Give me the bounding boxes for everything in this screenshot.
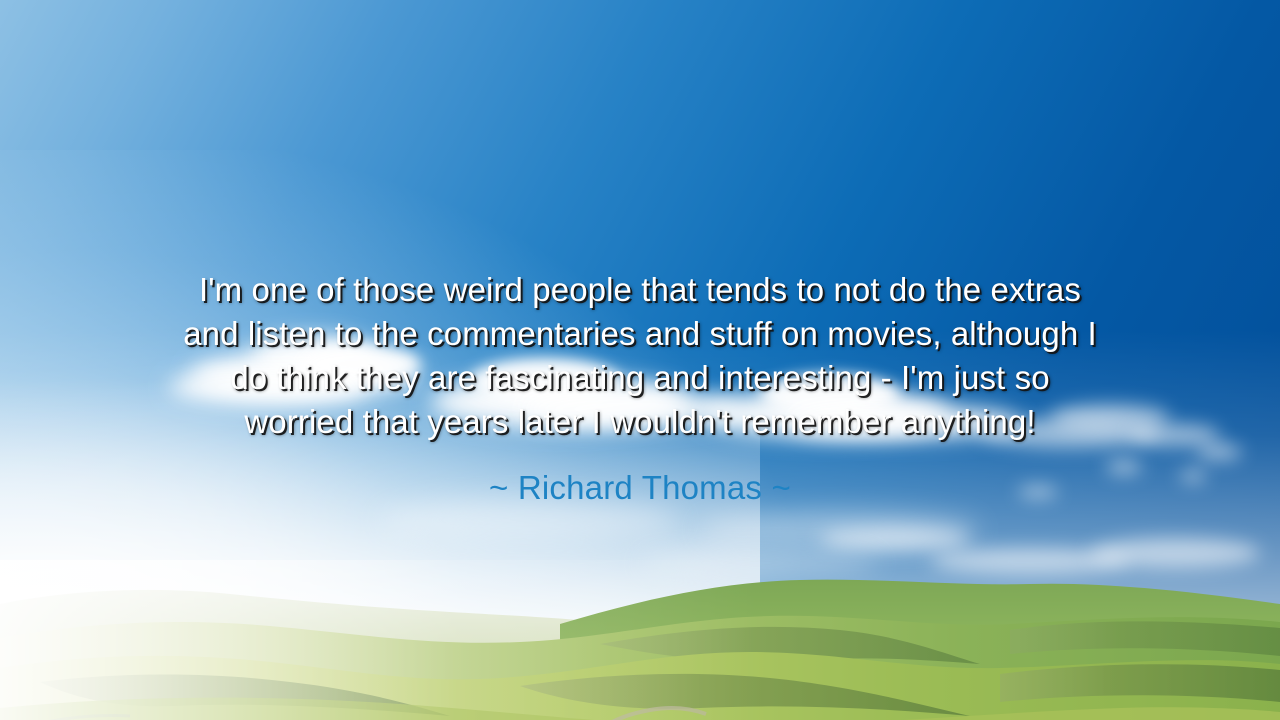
quote-text: I'm one of those weird people that tends… — [96, 268, 1184, 444]
quote-container: I'm one of those weird people that tends… — [0, 268, 1280, 444]
quote-wallpaper: I'm one of those weird people that tends… — [0, 0, 1280, 720]
author-container: ~ Richard Thomas ~ — [0, 468, 1280, 508]
author-attribution: ~ Richard Thomas ~ — [0, 468, 1280, 508]
cloud-icon — [1196, 444, 1242, 460]
cloud-icon — [820, 528, 970, 550]
landscape-hills — [0, 560, 1280, 720]
